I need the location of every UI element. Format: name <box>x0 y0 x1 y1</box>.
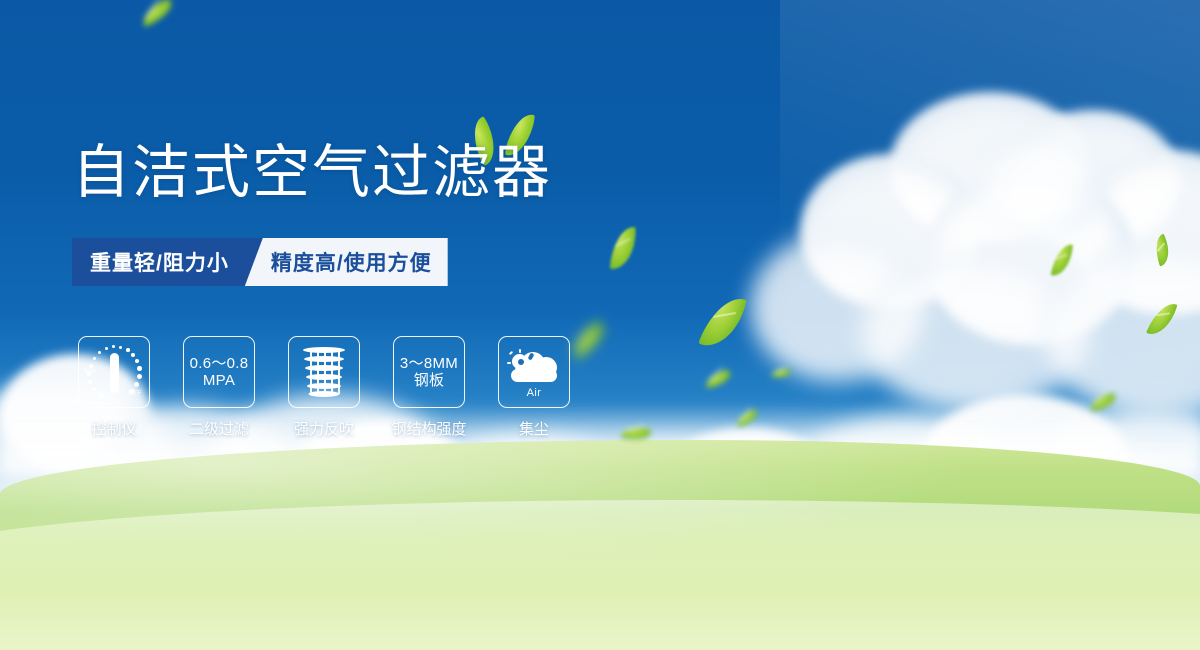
feature-caption: 钢结构强度 <box>392 418 467 439</box>
feature-icon-box <box>288 336 360 408</box>
air-label: Air <box>507 387 561 399</box>
dial-label-off: OFF <box>128 390 142 397</box>
dial-icon: NO OFF <box>86 344 142 400</box>
feature-caption: 二级过滤 <box>189 418 249 439</box>
feature-icon-box: 3～8MM 钢板 <box>393 336 465 408</box>
subtitle-right: 精度高/使用方便 <box>245 238 448 286</box>
feature-item-dust[interactable]: Air 集尘 <box>498 336 570 439</box>
feature-item-pressure[interactable]: 0.6～0.8 MPA 二级过滤 <box>183 336 255 439</box>
steel-plate-icon: 3～8MM 钢板 <box>400 355 458 389</box>
feature-list: NO OFF 控制仪 0.6～0.8 MPA 二级过滤 <box>78 336 570 439</box>
pressure-icon: 0.6～0.8 MPA <box>190 355 249 389</box>
subtitle-left: 重量轻/阻力小 <box>72 238 263 286</box>
feature-item-steel[interactable]: 3～8MM 钢板 钢结构强度 <box>393 336 465 439</box>
feature-icon-box: 0.6～0.8 MPA <box>183 336 255 408</box>
feature-item-control[interactable]: NO OFF 控制仪 <box>78 336 150 439</box>
feature-icon-box: NO OFF <box>78 336 150 408</box>
hero-banner: 自洁式空气过滤器 重量轻/阻力小 精度高/使用方便 <box>0 0 1200 650</box>
feature-caption: 集尘 <box>519 418 549 439</box>
air-cloud-icon: Air <box>507 348 561 396</box>
filter-coil-icon <box>302 347 346 397</box>
feature-item-backblow[interactable]: 强力反吹 <box>288 336 360 439</box>
feature-caption: 强力反吹 <box>294 418 354 439</box>
grass-hill-near <box>0 500 1200 650</box>
subtitle-banner: 重量轻/阻力小 精度高/使用方便 <box>72 238 462 286</box>
page-title: 自洁式空气过滤器 <box>72 144 552 202</box>
leaf-decoration <box>610 225 636 271</box>
dial-label-no: NO <box>84 368 94 375</box>
feature-icon-box: Air <box>498 336 570 408</box>
feature-caption: 控制仪 <box>91 418 136 439</box>
